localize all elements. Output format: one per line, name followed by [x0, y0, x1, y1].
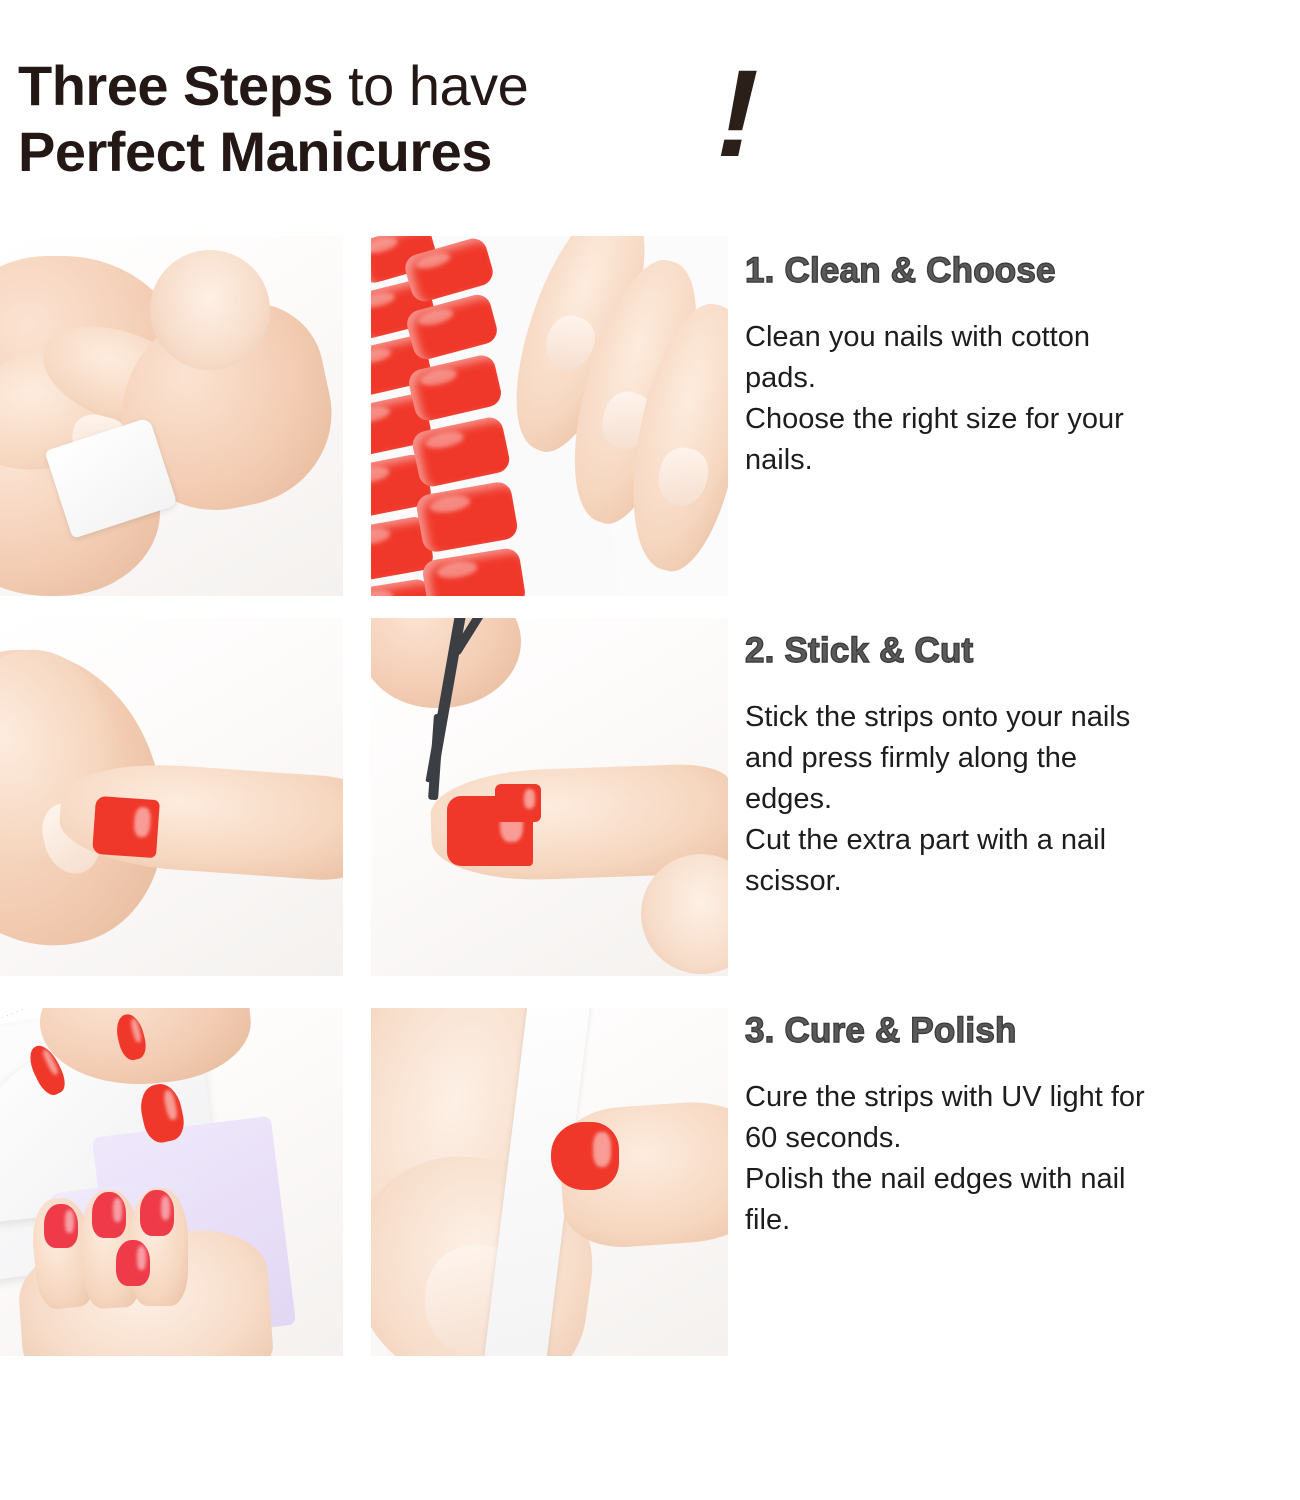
photo-cure-under-uv-lamp: ·····: [0, 1008, 343, 1356]
title-strong-1: Three Steps: [18, 54, 333, 117]
step-2-heading: 2. Stick & Cut: [745, 632, 1300, 671]
step-2-body: Stick the strips onto your nails and pre…: [745, 697, 1300, 903]
step-2: 2. Stick & Cut Stick the strips onto you…: [745, 632, 1300, 902]
photo-row-step-2: [0, 618, 728, 976]
step-3-line-1: Cure the strips with UV light for: [745, 1077, 1300, 1118]
step-1-line-4: nails.: [745, 440, 1300, 481]
title-line-2: Perfect Manicures: [18, 124, 492, 180]
title-strong-2: Perfect Manicures: [18, 120, 492, 183]
page-title: Three Steps to have Perfect Manicures !: [18, 58, 778, 208]
step-1-line-2: pads.: [745, 358, 1300, 399]
step-3-heading: 3. Cure & Polish: [745, 1012, 1300, 1051]
photo-cut-extra-with-scissor: [371, 618, 728, 976]
step-1-line-3: Choose the right size for your: [745, 399, 1300, 440]
exclamation-mark-icon: !: [705, 52, 773, 176]
photo-polish-edges-with-nail-file: [371, 1008, 728, 1356]
title-light-1: to have: [333, 54, 528, 117]
photo-row-step-1: [0, 236, 728, 596]
step-3-line-2: 60 seconds.: [745, 1118, 1300, 1159]
step-1-heading: 1. Clean & Choose: [745, 252, 1300, 291]
photo-choose-strip-size: [371, 236, 728, 596]
step-3: 3. Cure & Polish Cure the strips with UV…: [745, 1012, 1300, 1241]
step-3-line-4: file.: [745, 1200, 1300, 1241]
step-1: 1. Clean & Choose Clean you nails with c…: [745, 252, 1300, 481]
photo-row-step-3: ·····: [0, 1008, 728, 1356]
photo-grid: ·····: [0, 236, 728, 1356]
step-2-line-3: edges.: [745, 779, 1300, 820]
step-2-line-5: scissor.: [745, 861, 1300, 902]
step-1-line-1: Clean you nails with cotton: [745, 317, 1300, 358]
step-2-line-4: Cut the extra part with a nail: [745, 820, 1300, 861]
step-2-line-1: Stick the strips onto your nails: [745, 697, 1300, 738]
infographic-page: Three Steps to have Perfect Manicures !: [0, 0, 1300, 1500]
photo-clean-with-cotton-pad: [0, 236, 343, 596]
step-3-body: Cure the strips with UV light for 60 sec…: [745, 1077, 1300, 1242]
step-1-body: Clean you nails with cotton pads. Choose…: [745, 317, 1300, 482]
step-2-line-2: and press firmly along the: [745, 738, 1300, 779]
photo-stick-strip-on-nail: [0, 618, 343, 976]
step-3-line-3: Polish the nail edges with nail: [745, 1159, 1300, 1200]
title-line-1: Three Steps to have: [18, 58, 528, 114]
